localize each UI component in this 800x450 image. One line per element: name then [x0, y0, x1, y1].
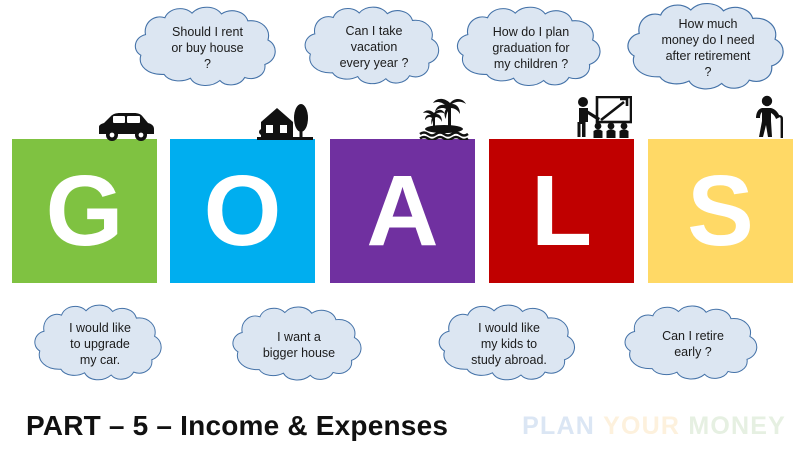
cloud-text: How do I plan graduation for my children…: [484, 24, 577, 72]
goal-letter: S: [687, 161, 754, 261]
house-icon: [257, 101, 313, 141]
thought-cloud-bigger-house: I want a bigger house: [228, 304, 370, 386]
thought-cloud-graduation: How do I plan graduation for my children…: [452, 4, 610, 92]
cloud-text: I would like my kids to study abroad.: [463, 320, 555, 368]
slide-canvas: Should I rent or buy house ? Can I take …: [0, 0, 800, 450]
brand-watermark: PLAN YOUR MONEY: [522, 412, 786, 441]
goal-letter: A: [366, 161, 438, 261]
thought-cloud-retire-early: Can I retire early ?: [620, 303, 766, 385]
classroom-presentation-icon-glyph: [570, 96, 632, 140]
watermark-word-money: MONEY: [688, 412, 786, 440]
elderly-person-cane-icon-glyph: [752, 95, 788, 141]
cloud-text: Should I rent or buy house ?: [163, 24, 251, 72]
thought-cloud-rent-or-buy: Should I rent or buy house ?: [130, 4, 285, 92]
elderly-person-cane-icon: [752, 95, 788, 141]
classroom-presentation-icon: [570, 96, 632, 140]
cloud-text: I would like to upgrade my car.: [61, 320, 139, 368]
thought-cloud-retirement-money: How much money do I need after retiremen…: [622, 0, 794, 96]
goal-box-retirement[interactable]: S: [648, 139, 793, 283]
goal-box-education[interactable]: L: [489, 139, 634, 283]
thought-cloud-study-abroad: I would like my kids to study abroad.: [434, 302, 584, 386]
thought-cloud-vacation: Can I take vacation every year ?: [300, 4, 448, 90]
goal-box-vehicle[interactable]: G: [12, 139, 157, 283]
goal-box-vacation[interactable]: A: [330, 139, 475, 283]
car-icon: [95, 112, 157, 142]
cloud-text: Can I retire early ?: [654, 328, 732, 360]
goal-letter: G: [46, 161, 124, 261]
island-palm-icon-glyph: [418, 95, 470, 140]
cloud-text: I want a bigger house: [255, 329, 343, 361]
cloud-text: Can I take vacation every year ?: [332, 23, 417, 71]
island-palm-icon: [418, 95, 470, 140]
page-title: PART – 5 – Income & Expenses: [26, 410, 448, 442]
cloud-text: How much money do I need after retiremen…: [653, 16, 762, 80]
thought-cloud-upgrade-car: I would like to upgrade my car.: [30, 302, 170, 386]
goal-box-home[interactable]: O: [170, 139, 315, 283]
car-icon-glyph: [95, 112, 157, 142]
house-icon-glyph: [257, 101, 313, 141]
goal-letter: L: [531, 161, 592, 261]
goal-letter: O: [204, 161, 282, 261]
watermark-word-your: YOUR: [603, 412, 680, 440]
watermark-word-plan: PLAN: [522, 412, 595, 440]
